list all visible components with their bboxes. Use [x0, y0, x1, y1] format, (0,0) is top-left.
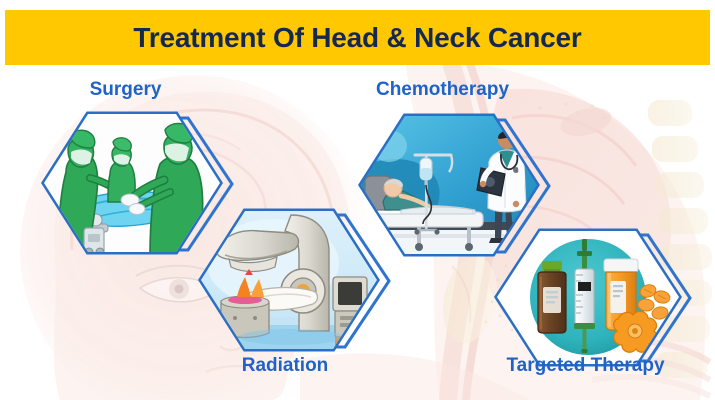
- targeted-therapy-medication-illustration: [490, 225, 700, 370]
- label-targeted-therapy: Targeted Therapy: [478, 356, 693, 375]
- infographic-canvas: Treatment Of Head & Neck Cancer Surgery: [0, 0, 715, 400]
- label-radiation: Radiation: [195, 356, 375, 375]
- treatment-card-targeted-therapy[interactable]: [490, 225, 692, 365]
- treatment-card-surgery[interactable]: [38, 108, 218, 254]
- page-title: Treatment Of Head & Neck Cancer: [133, 24, 581, 52]
- header-banner: Treatment Of Head & Neck Cancer: [5, 10, 710, 65]
- label-surgery: Surgery: [38, 80, 213, 99]
- treatment-card-radiation[interactable]: [195, 205, 375, 351]
- label-chemotherapy: Chemotherapy: [355, 80, 530, 99]
- medicine-bottle-icon: [538, 261, 566, 333]
